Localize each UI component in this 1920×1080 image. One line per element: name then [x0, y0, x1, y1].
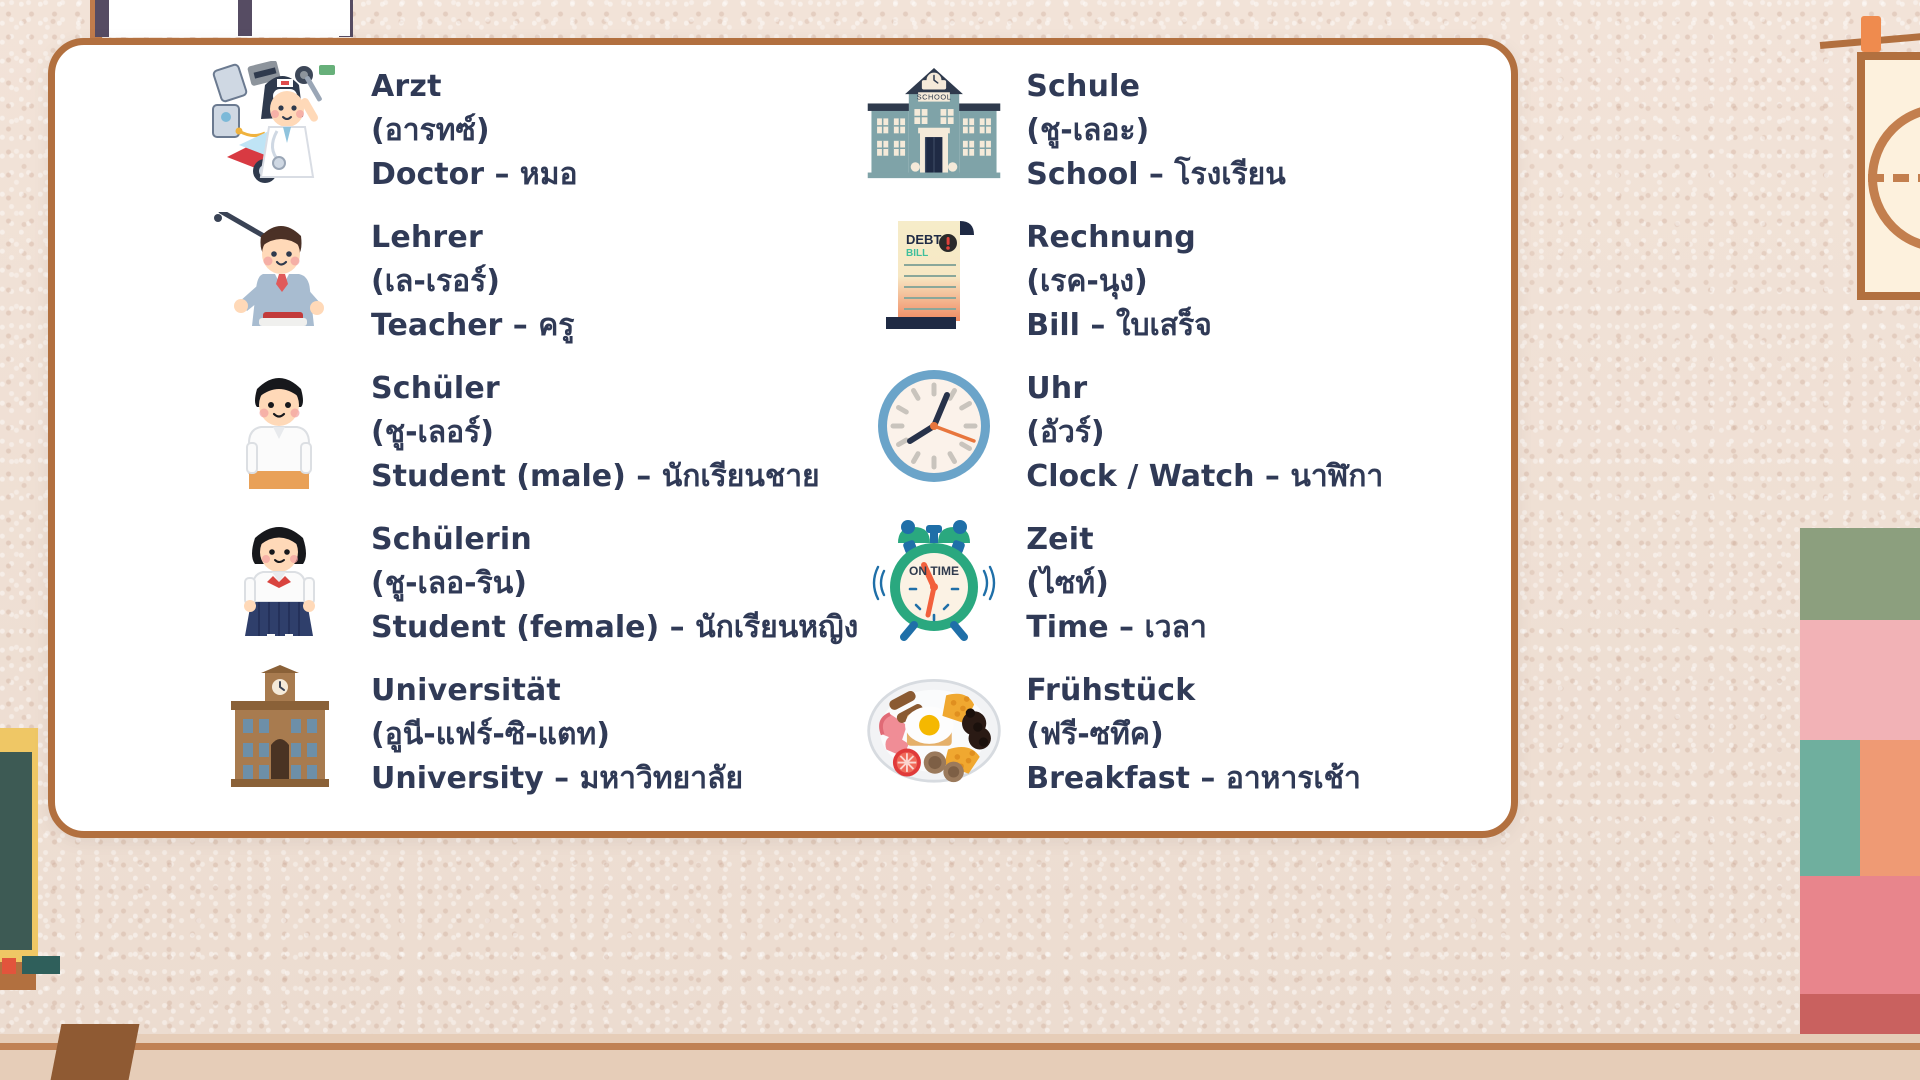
german-word: Frühstück — [1026, 669, 1361, 713]
vocabulary-card: Arzt (อารทซ์) Doctor – หมอ — [48, 38, 1518, 838]
thai-pronunciation: (อูนี-แฟร์-ซิ-แตท) — [371, 713, 743, 757]
wall-clock-illustration — [864, 361, 1004, 491]
breakfast-plate-illustration — [864, 663, 1004, 793]
eraser — [22, 956, 60, 974]
book-block-5 — [1800, 876, 1920, 994]
entry-texts: Schule (ชู-เลอะ) School – โรงเรียน — [1026, 59, 1285, 197]
german-word: Schülerin — [371, 518, 858, 562]
alarm-on-time-text: ON TIME — [909, 564, 959, 578]
list-item[interactable]: Universität (อูนี-แฟร์-ซิ-แตท) Universit… — [175, 663, 858, 814]
school-building-illustration: SCHOOL — [864, 59, 1004, 189]
german-word: Uhr — [1026, 367, 1383, 411]
list-item[interactable]: Lehrer (เล-เรอร์) Teacher – ครู — [175, 210, 858, 361]
entry-texts: Arzt (อารทซ์) Doctor – หมอ — [371, 59, 578, 197]
list-item[interactable]: ON TIME Zeit (ไซท์) Time – เวลา — [858, 512, 1493, 663]
thai-pronunciation: (ชู-เลอะ) — [1026, 109, 1285, 153]
desk-leg — [51, 1024, 140, 1080]
german-word: Zeit — [1026, 518, 1207, 562]
right-column: SCHOOL — [858, 59, 1493, 817]
vocabulary-grid: Arzt (อารทซ์) Doctor – หมอ — [55, 45, 1511, 831]
thai-pronunciation: (ชู-เลอ-ริน) — [371, 562, 858, 606]
bookshelf-blocks — [1800, 528, 1920, 1080]
list-item[interactable]: Frühstück (ฟรี-ซทึค) Breakfast – อาหารเช… — [858, 663, 1493, 814]
entry-texts: Schüler (ชู-เลอร์) Student (male) – นักเ… — [371, 361, 820, 499]
entry-texts: Rechnung (เรค-นุง) Bill – ใบเสร็จ — [1026, 210, 1212, 348]
chalk-red — [2, 958, 16, 974]
list-item[interactable]: Uhr (อัวร์) Clock / Watch – นาฬิกา — [858, 361, 1493, 512]
poster-hanger-hook — [1861, 16, 1881, 52]
german-word: Lehrer — [371, 216, 574, 260]
book-block-1 — [1800, 528, 1920, 620]
german-word: Universität — [371, 669, 743, 713]
meaning: Bill – ใบเสร็จ — [1026, 304, 1212, 348]
list-item[interactable]: SCHOOL — [858, 59, 1493, 210]
list-item[interactable]: DEBT BILL Rechnung (เรค-นุง) Bill – — [858, 210, 1493, 361]
poster-board — [238, 0, 350, 36]
teacher-illustration — [209, 210, 349, 340]
bill-debt-label: DEBT — [906, 232, 941, 247]
meaning: Student (male) – นักเรียนชาย — [371, 455, 820, 499]
meaning: Time – เวลา — [1026, 606, 1207, 650]
thai-pronunciation: (ฟรี-ซทึค) — [1026, 713, 1361, 757]
meaning: Teacher – ครู — [371, 304, 574, 348]
meaning: University – มหาวิทยาลัย — [371, 757, 743, 801]
entry-texts: Lehrer (เล-เรอร์) Teacher – ครู — [371, 210, 574, 348]
meaning: Breakfast – อาหารเช้า — [1026, 757, 1361, 801]
entry-texts: Uhr (อัวร์) Clock / Watch – นาฬิกา — [1026, 361, 1383, 499]
book-block-2 — [1800, 620, 1920, 740]
female-student-illustration — [209, 512, 349, 642]
bill-bill-label: BILL — [906, 248, 928, 259]
floor-trim — [0, 1043, 1920, 1050]
list-item[interactable]: Schüler (ชู-เลอร์) Student (male) – นักเ… — [175, 361, 858, 512]
left-column: Arzt (อารทซ์) Doctor – หมอ — [175, 59, 858, 817]
thai-pronunciation: (เรค-นุง) — [1026, 260, 1212, 304]
thai-pronunciation: (อัวร์) — [1026, 411, 1383, 455]
german-word: Rechnung — [1026, 216, 1212, 260]
thai-pronunciation: (ไซท์) — [1026, 562, 1207, 606]
male-student-illustration — [209, 361, 349, 491]
bill-invoice-illustration: DEBT BILL — [864, 210, 1004, 340]
meaning: School – โรงเรียน — [1026, 153, 1285, 197]
thai-pronunciation: (ชู-เลอร์) — [371, 411, 820, 455]
alarm-clock-illustration: ON TIME — [864, 512, 1004, 642]
doctor-illustration — [209, 59, 349, 189]
german-word: Arzt — [371, 65, 578, 109]
entry-texts: Universität (อูนี-แฟร์-ซิ-แตท) Universit… — [371, 663, 743, 801]
book-block-3 — [1860, 740, 1920, 876]
german-word: Schüler — [371, 367, 820, 411]
meaning: Clock / Watch – นาฬิกา — [1026, 455, 1383, 499]
floor — [0, 1034, 1920, 1080]
list-item[interactable]: Schülerin (ชู-เลอ-ริน) Student (female) … — [175, 512, 858, 663]
university-building-illustration — [209, 663, 349, 793]
entry-texts: Zeit (ไซท์) Time – เวลา — [1026, 512, 1207, 650]
entry-texts: Frühstück (ฟรี-ซทึค) Breakfast – อาหารเช… — [1026, 663, 1361, 801]
list-item[interactable]: Arzt (อารทซ์) Doctor – หมอ — [175, 59, 858, 210]
meaning: Student (female) – นักเรียนหญิง — [371, 606, 858, 650]
meaning: Doctor – หมอ — [371, 153, 578, 197]
chalkboard-surface — [0, 752, 32, 950]
book-block-4 — [1800, 740, 1860, 876]
entry-texts: Schülerin (ชู-เลอ-ริน) Student (female) … — [371, 512, 858, 650]
thai-pronunciation: (เล-เรอร์) — [371, 260, 574, 304]
thai-pronunciation: (อารทซ์) — [371, 109, 578, 153]
school-sign-text: SCHOOL — [917, 93, 952, 102]
german-word: Schule — [1026, 65, 1285, 109]
